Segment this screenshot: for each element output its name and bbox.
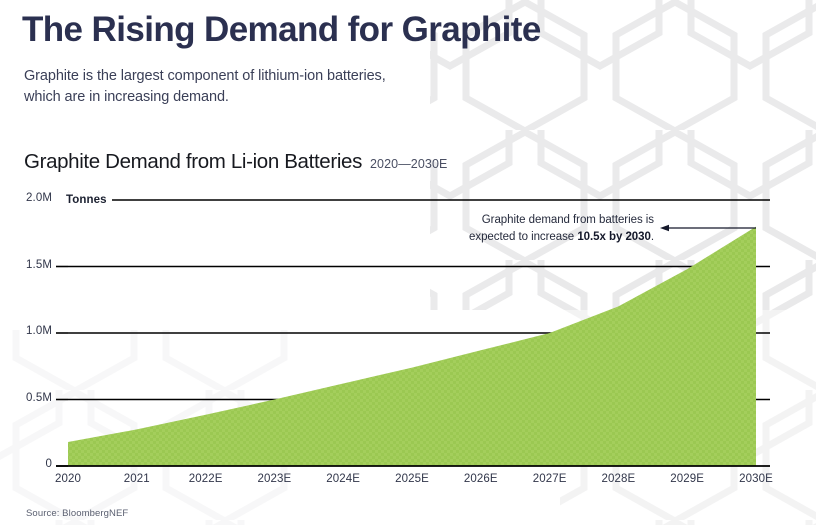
annotation-line-2-suffix: .: [651, 231, 654, 243]
x-axis-tick-label: 2025E: [395, 473, 429, 485]
infographic-page: The Rising Demand for Graphite Graphite …: [0, 0, 816, 525]
annotation-line-2-prefix: expected to increase: [469, 231, 577, 243]
annotation-arrow-icon: [660, 225, 756, 231]
x-axis-tick-label: 2021: [124, 473, 150, 485]
x-axis-tick-label: 2022E: [189, 473, 223, 485]
x-axis-tick-label: 2030E: [739, 473, 773, 485]
x-axis-tick-label: 2023E: [258, 473, 292, 485]
x-axis-tick-label: 2024E: [326, 473, 360, 485]
x-axis-tick-label: 2028E: [602, 473, 636, 485]
source-credit: Source: BloombergNEF: [26, 508, 128, 519]
x-axis-tick-label: 2020: [55, 473, 81, 485]
y-axis-tick-label: 1.5M: [8, 259, 52, 271]
area-chart-svg: [0, 0, 816, 525]
annotation-highlight: 10.5x by 2030: [577, 231, 651, 243]
area-series-graphite-demand: [68, 227, 756, 466]
y-axis-units-label: Tonnes: [66, 194, 107, 206]
y-axis-tick-label: 0: [8, 458, 52, 470]
y-axis-tick-label: 0.5M: [8, 392, 52, 404]
chart-annotation: Graphite demand from batteries is expect…: [432, 212, 654, 245]
x-axis-tick-label: 2027E: [533, 473, 567, 485]
chart-plot-area: 00.5M1.0M1.5M2.0M Tonnes 202020212022E20…: [0, 0, 816, 525]
y-axis-tick-label: 1.0M: [8, 325, 52, 337]
x-axis-tick-label: 2029E: [670, 473, 704, 485]
annotation-line-1: Graphite demand from batteries is: [482, 214, 654, 226]
x-axis-tick-label: 2026E: [464, 473, 498, 485]
y-axis-tick-label: 2.0M: [8, 192, 52, 204]
chart-y-tick-marks: [56, 267, 68, 467]
